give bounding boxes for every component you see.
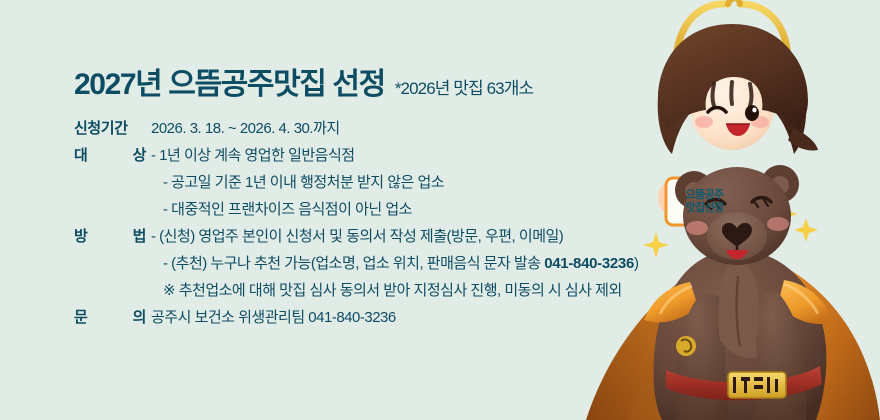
bear-cheek-right xyxy=(767,217,789,231)
info-rows: 신청기간2026. 3. 18. ~ 2026. 4. 30.까지대 상- 1년… xyxy=(74,117,674,333)
info-row-value: - (추천) 누구나 추천 가능(업소명, 업소 위치, 판매음식 문자 발송 … xyxy=(146,252,639,273)
phone-number: 041-840-3236 xyxy=(544,255,634,272)
info-row-value: 2026. 3. 18. ~ 2026. 4. 30.까지 xyxy=(146,117,340,138)
info-row-value: ※ 추천업소에 대해 맛집 심사 동의서 받아 지정심사 진행, 미동의 시 심… xyxy=(146,279,622,300)
info-row-value: 공주시 보건소 위생관리팀 041-840-3236 xyxy=(146,306,396,327)
info-row-value: - (신청) 영업주 본인이 신청서 및 동의서 작성 제출(방문, 우편, 이… xyxy=(146,225,563,246)
info-row: ※ 추천업소에 대해 맛집 심사 동의서 받아 지정심사 진행, 미동의 시 심… xyxy=(74,279,674,306)
bear-head xyxy=(675,165,799,265)
info-row: - 대중적인 프랜차이즈 음식점이 아닌 업소 xyxy=(74,198,674,225)
info-row: - 공고일 기준 1년 이내 행정처분 받지 않은 업소 xyxy=(74,171,674,198)
info-row: 방 법- (신청) 영업주 본인이 신청서 및 동의서 작성 제출(방문, 우편… xyxy=(74,225,674,252)
princess-eye-open xyxy=(745,105,759,121)
info-row: 대 상- 1년 이상 계속 영업한 일반음식점 xyxy=(74,144,674,171)
promotional-banner: 으뜸공주 맛집선정 2027년 으뜸공주맛집 선정 *2026년 맛집 63개소… xyxy=(0,0,880,420)
info-row: - (추천) 누구나 추천 가능(업소명, 업소 위치, 판매음식 문자 발송 … xyxy=(74,252,674,279)
info-row: 문 의공주시 보건소 위생관리팀 041-840-3236 xyxy=(74,306,674,333)
info-row-label: 대 상 xyxy=(74,144,146,165)
bear-cheek-left xyxy=(686,221,708,235)
princess-cheek-left xyxy=(695,116,713,128)
info-row: 신청기간2026. 3. 18. ~ 2026. 4. 30.까지 xyxy=(74,117,674,144)
sparkle-small xyxy=(794,218,818,242)
info-row-label: 신청기간 xyxy=(74,117,146,138)
banner-text-content: 2027년 으뜸공주맛집 선정 *2026년 맛집 63개소 신청기간2026.… xyxy=(74,70,674,333)
info-row-label: 문 의 xyxy=(74,306,146,327)
title-note: *2026년 맛집 63개소 xyxy=(395,80,533,97)
info-row-value: - 공고일 기준 1년 이내 행정처분 받지 않은 업소 xyxy=(146,171,444,192)
page-title: 2027년 으뜸공주맛집 선정 xyxy=(74,70,385,100)
info-row-value: - 대중적인 프랜차이즈 음식점이 아닌 업소 xyxy=(146,198,412,219)
title-row: 2027년 으뜸공주맛집 선정 *2026년 맛집 63개소 xyxy=(74,70,674,100)
info-row-value: - 1년 이상 계속 영업한 일반음식점 xyxy=(146,144,355,165)
info-row-label: 방 법 xyxy=(74,225,146,246)
